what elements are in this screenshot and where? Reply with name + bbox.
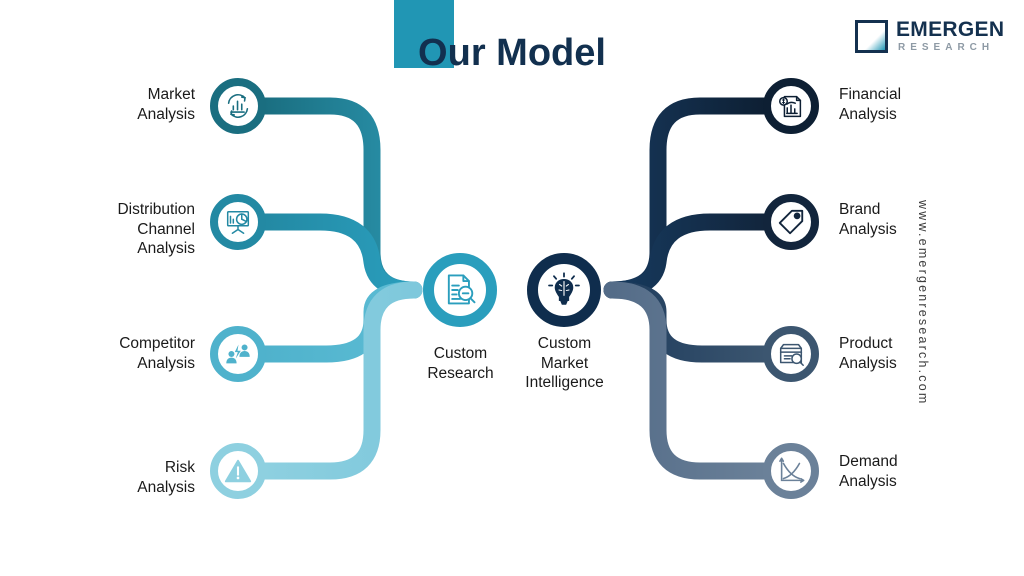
wire-brand-analysis	[612, 222, 767, 290]
node-market-analysis[interactable]	[210, 78, 266, 134]
node-custom-market-intelligence[interactable]	[527, 253, 601, 327]
label-distribution-channel-analysis: Distribution Channel Analysis	[40, 200, 195, 259]
wire-risk-analysis	[262, 290, 414, 471]
label-risk-analysis: Risk Analysis	[40, 458, 195, 497]
node-competitor-analysis[interactable]	[210, 326, 266, 382]
competitors-people-icon	[223, 339, 253, 369]
label-market-analysis: Market Analysis	[40, 85, 195, 124]
node-product-analysis[interactable]	[763, 326, 819, 382]
financial-report-icon	[776, 91, 806, 121]
product-box-magnifier-icon	[776, 339, 806, 369]
node-distribution-channel-analysis[interactable]	[210, 194, 266, 250]
supply-demand-curve-icon	[776, 456, 806, 486]
wire-financial-analysis	[612, 106, 767, 290]
label-competitor-analysis: Competitor Analysis	[40, 334, 195, 373]
label-brand-analysis: Brand Analysis	[839, 200, 999, 239]
node-risk-analysis[interactable]	[210, 443, 266, 499]
label-financial-analysis: Financial Analysis	[839, 85, 999, 124]
document-magnifier-icon	[441, 271, 479, 309]
presentation-chart-icon	[223, 207, 253, 237]
price-tag-icon	[776, 207, 806, 237]
node-brand-analysis[interactable]	[763, 194, 819, 250]
wire-market-analysis	[262, 106, 414, 290]
node-demand-analysis[interactable]	[763, 443, 819, 499]
label-custom-market-intelligence: Custom Market Intelligence	[489, 334, 640, 393]
slide-canvas: Our Model EMERGEN RESEARCH www.emergenre…	[0, 0, 1024, 576]
brain-lightbulb-icon	[545, 271, 583, 309]
node-custom-research[interactable]	[423, 253, 497, 327]
warning-triangle-icon	[223, 456, 253, 486]
label-demand-analysis: Demand Analysis	[839, 452, 999, 491]
wire-distribution-channel-analysis	[262, 222, 414, 290]
label-product-analysis: Product Analysis	[839, 334, 999, 373]
node-financial-analysis[interactable]	[763, 78, 819, 134]
bar-chart-refresh-icon	[223, 91, 253, 121]
